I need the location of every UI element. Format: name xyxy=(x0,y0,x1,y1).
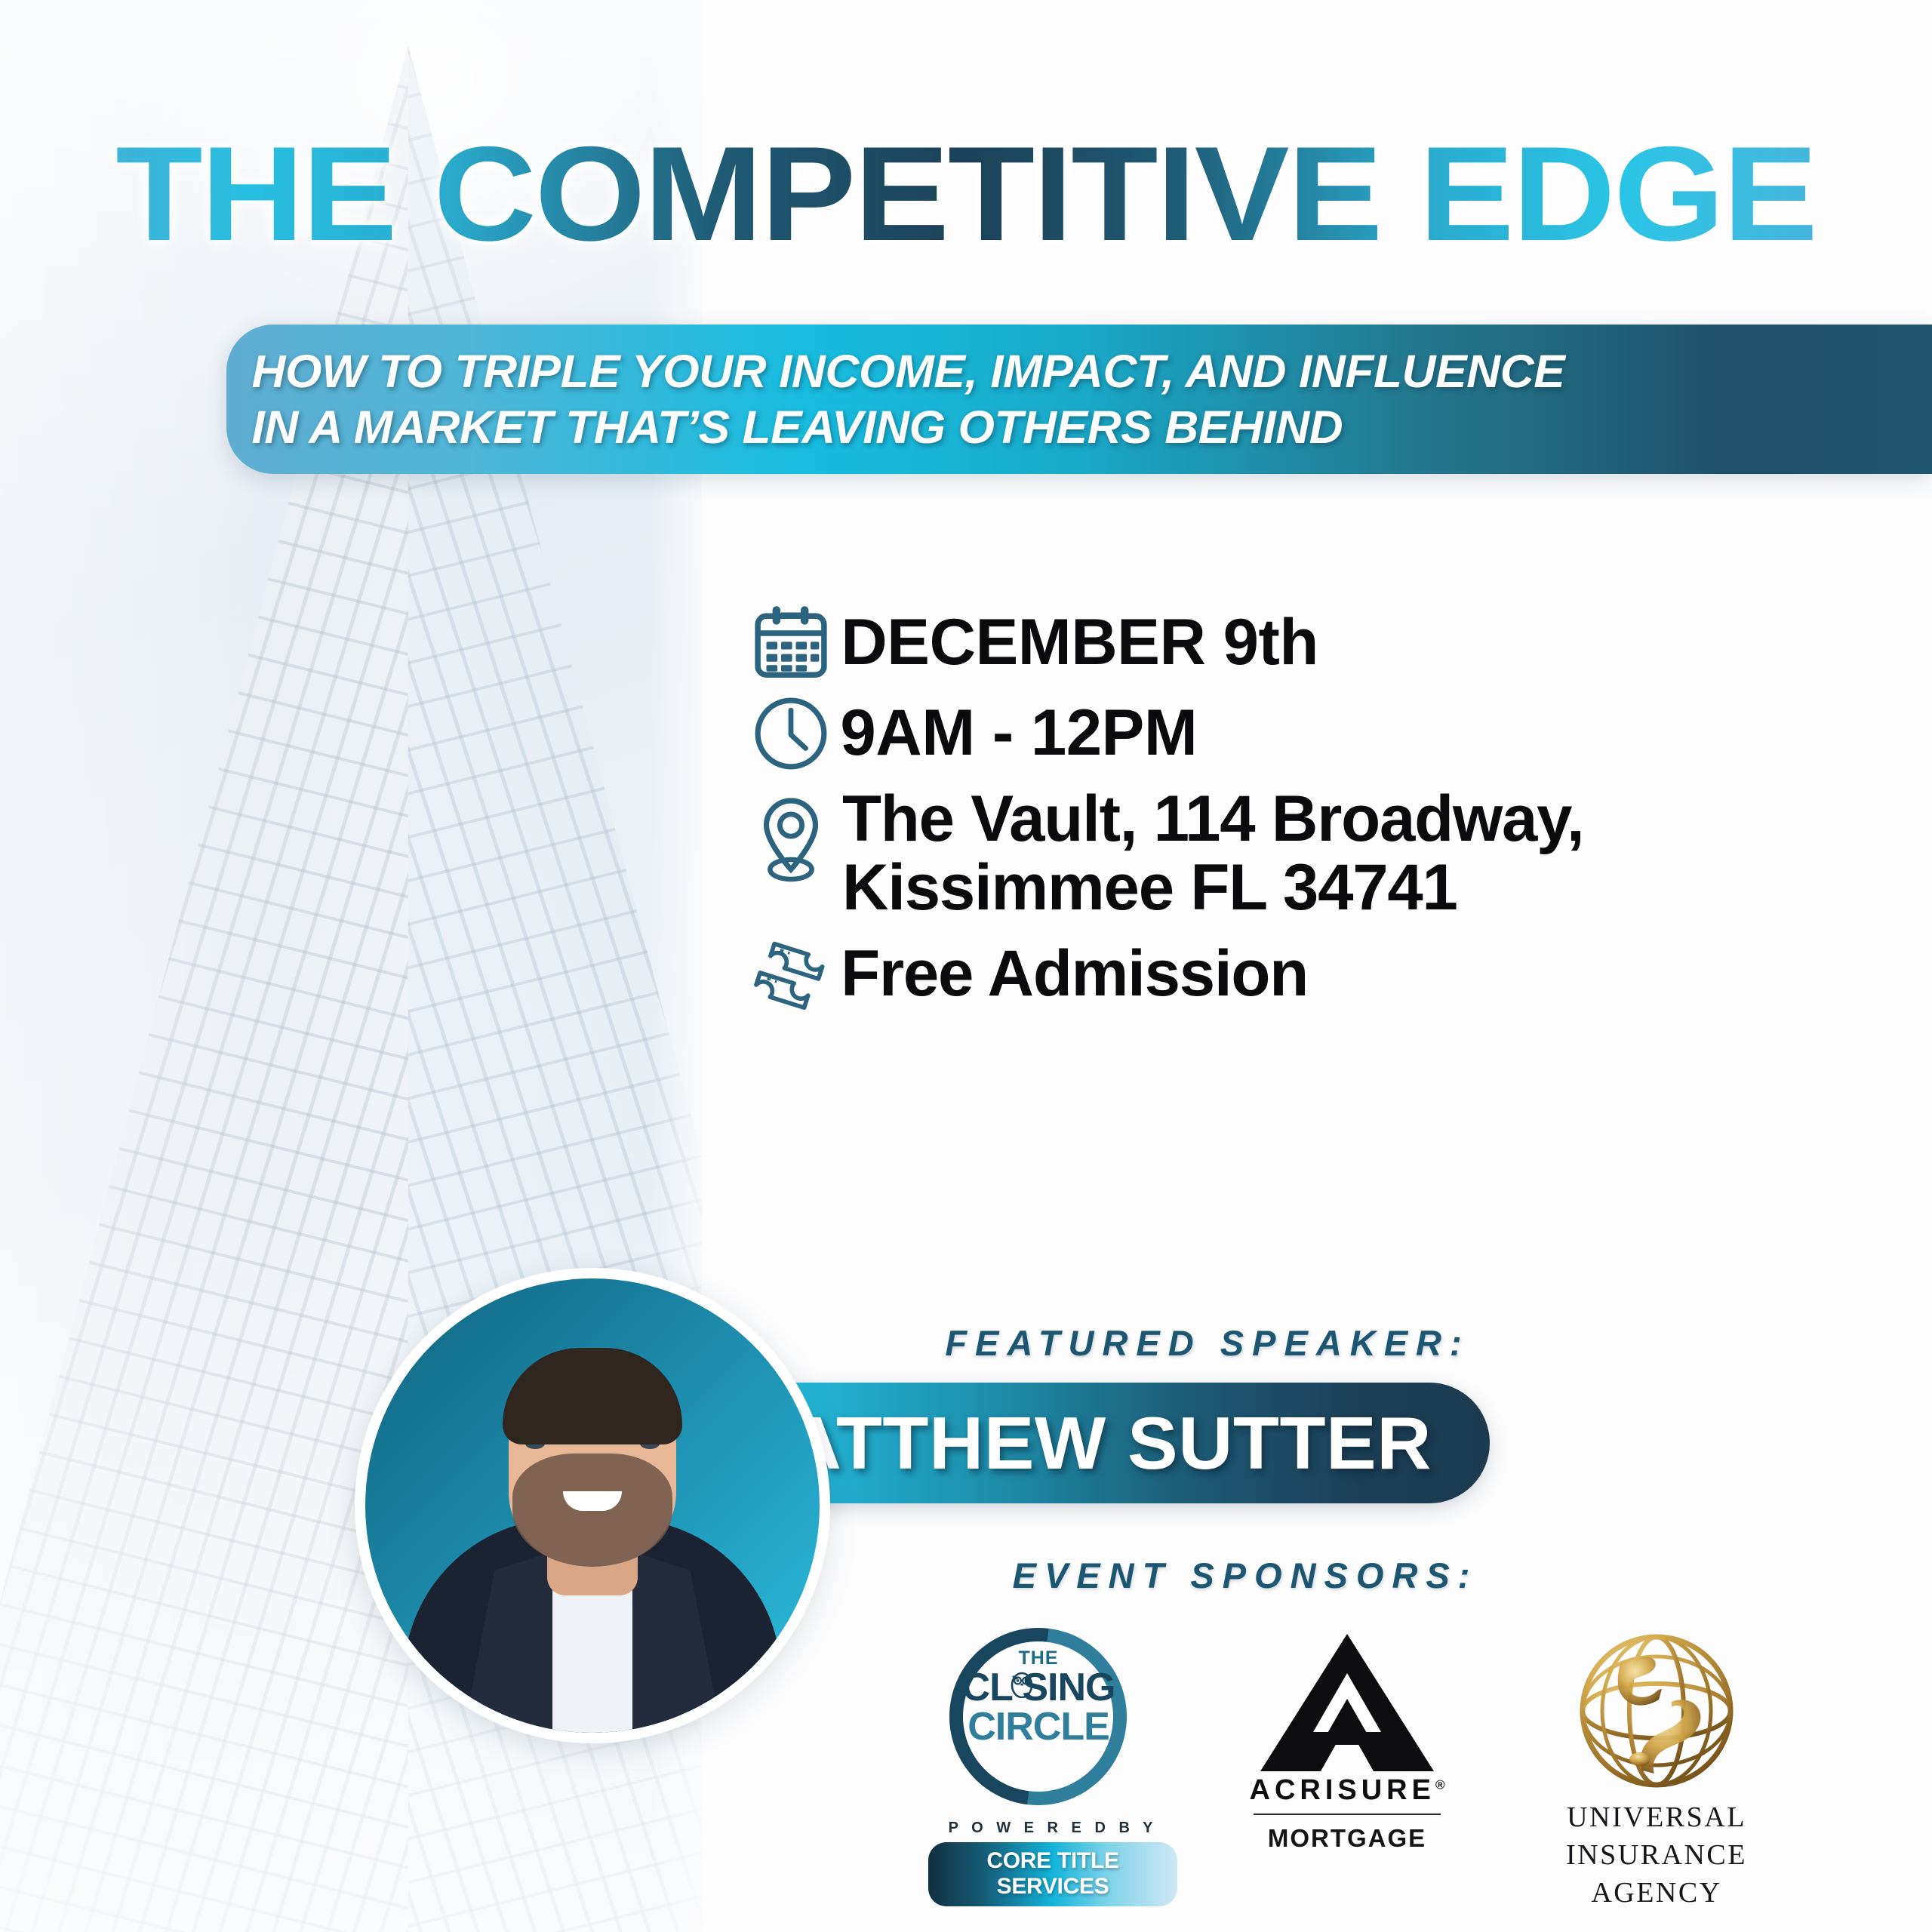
portrait-head xyxy=(509,1360,676,1565)
uia-line-2: AGENCY xyxy=(1517,1874,1796,1912)
detail-text-admission: Free Admission xyxy=(841,940,1308,1008)
subtitle-text: HOW TO TRIPLE YOUR INCOME, IMPACT, AND I… xyxy=(213,343,1564,456)
portrait-hair xyxy=(503,1348,682,1444)
detail-row-date: DECEMBER 9th xyxy=(743,604,1906,682)
detail-text-date: DECEMBER 9th xyxy=(841,608,1318,677)
portrait-lapel-right xyxy=(632,1552,723,1733)
acrisure-wordmark: ACRISURE® xyxy=(1238,1774,1457,1807)
clock-icon xyxy=(743,694,838,773)
event-sponsors-label: EVENT SPONSORS: xyxy=(830,1555,1660,1596)
detail-row-location: The Vault, 114 Broadway, Kissimmee FL 34… xyxy=(743,785,1906,922)
sponsor-universal-insurance-agency: UNIVERSAL INSURANCE AGENCY xyxy=(1517,1626,1796,1912)
portrait-neck xyxy=(547,1505,638,1595)
avatar xyxy=(365,1278,820,1733)
portrait-brow-right xyxy=(632,1426,666,1433)
detail-row-admission: Free Admission xyxy=(743,934,1906,1013)
portrait-brow-left xyxy=(519,1426,552,1433)
registered-mark-icon: ® xyxy=(1435,1777,1445,1792)
subtitle-banner: HOW TO TRIPLE YOUR INCOME, IMPACT, AND I… xyxy=(226,325,1932,474)
acrisure-name-text: ACRISURE xyxy=(1250,1774,1435,1806)
sponsor-the-closing-circle: THE CL SING CIRCLE P O W E R E D B Y COR… xyxy=(928,1626,1177,1906)
owl-icon xyxy=(1009,1669,1035,1698)
speaker-avatar-frame xyxy=(355,1268,830,1743)
closing-circle-logo-mark: THE CL SING CIRCLE xyxy=(940,1626,1166,1815)
calendar-icon xyxy=(743,604,838,682)
portrait-eye-left xyxy=(525,1438,545,1449)
tickets-icon xyxy=(743,934,838,1013)
location-pin-icon xyxy=(743,785,838,884)
portrait-suit xyxy=(404,1518,781,1733)
sponsor-acrisure-mortgage: ACRISURE® MORTGAGE xyxy=(1238,1626,1457,1853)
acrisure-subtitle: MORTGAGE xyxy=(1238,1824,1457,1853)
closing-circle-line-closing: CL SING xyxy=(940,1668,1137,1707)
portrait-beard xyxy=(512,1454,672,1567)
featured-speaker-label: FEATURED SPEAKER: xyxy=(830,1322,1585,1364)
portrait-eye-right xyxy=(640,1438,660,1449)
closing-circle-line-circle: CIRCLE xyxy=(940,1707,1137,1746)
powered-by-label: P O W E R E D B Y xyxy=(928,1820,1177,1837)
event-flyer: THE COMPETITIVE EDGE HOW TO TRIPLE YOUR … xyxy=(0,0,1932,1932)
detail-row-time: 9AM - 12PM xyxy=(743,694,1906,773)
globe-icon xyxy=(1575,1629,1738,1792)
event-details-list: DECEMBER 9th 9AM - 12PM The Vault, 114 B… xyxy=(743,604,1906,1025)
acrisure-divider xyxy=(1254,1814,1441,1815)
portrait-shirt xyxy=(535,1552,650,1733)
universal-insurance-wordmark: UNIVERSAL INSURANCE AGENCY xyxy=(1517,1798,1796,1912)
triangle-a-icon xyxy=(1260,1634,1434,1771)
detail-text-time: 9AM - 12PM xyxy=(840,699,1197,768)
core-title-services-badge: CORE TITLE SERVICES xyxy=(928,1842,1177,1906)
portrait-smile xyxy=(563,1491,622,1511)
portrait-lapel-left xyxy=(462,1552,552,1733)
speaker-name: MATTHEW SUTTER xyxy=(724,1401,1432,1486)
page-title: THE COMPETITIVE EDGE xyxy=(0,127,1932,261)
closing-circle-wordmark: THE CL SING CIRCLE xyxy=(940,1649,1137,1746)
detail-text-location: The Vault, 114 Broadway, Kissimmee FL 34… xyxy=(842,785,1584,922)
uia-line-1: UNIVERSAL INSURANCE xyxy=(1517,1798,1796,1874)
sponsor-logos: THE CL SING CIRCLE P O W E R E D B Y COR… xyxy=(928,1626,1796,1912)
